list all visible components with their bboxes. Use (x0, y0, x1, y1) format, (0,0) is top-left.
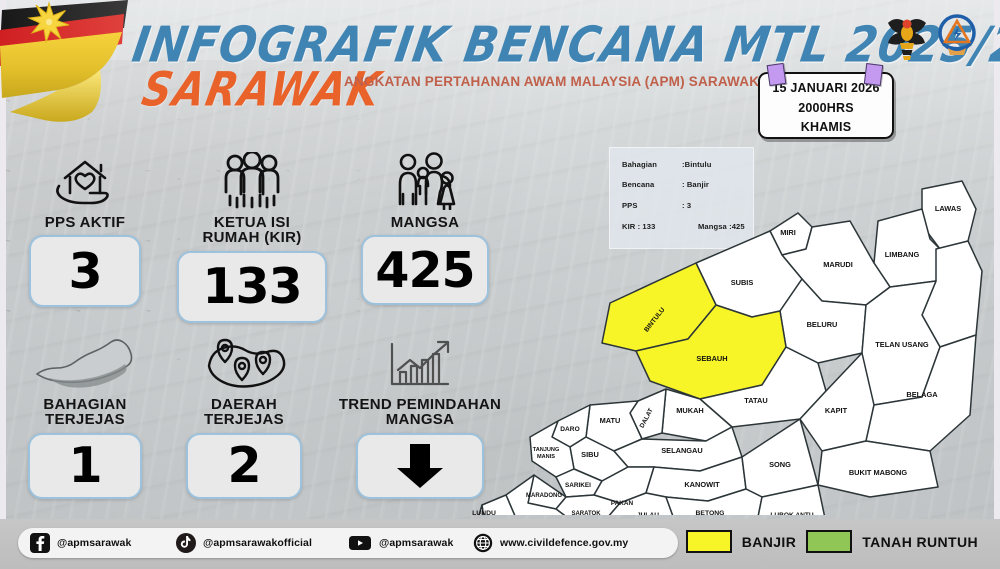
stat-ketua-isi-rumah: KETUA ISI RUMAH (KIR) 133 (168, 152, 336, 323)
info-value-bahagian: :Bintulu (682, 160, 711, 169)
stat-value-daerah: 2 (227, 441, 260, 490)
map-label-daro: DARO (560, 426, 579, 433)
social-pill: @apmsarawak @apmsarawakofficial @apmsara… (18, 528, 678, 558)
infographic-canvas: INFOGRAFIK BENCANA MTL 2025/2026 SARAWAK… (0, 0, 1000, 569)
date-card: 15 JANUARI 2026 2000HRS KHAMIS (758, 72, 894, 139)
stat-label-kir: KETUA ISI RUMAH (KIR) (168, 215, 336, 246)
social-facebook[interactable]: @apmsarawak (30, 528, 131, 558)
legend-swatch-banjir (686, 530, 732, 553)
people-group-icon (168, 152, 336, 210)
tape-right-icon (864, 63, 883, 86)
map-label-sibu: SIBU (581, 450, 599, 459)
map-label-limbang: LIMBANG (885, 250, 920, 259)
social-website-url: www.civildefence.gov.my (500, 537, 628, 549)
legend-label-tanah-runtuh: TANAH RUNTUH (862, 534, 978, 550)
map-label-song: SONG (769, 460, 791, 469)
social-website[interactable]: www.civildefence.gov.my (473, 528, 628, 558)
map-label-lawas: LAWAS (935, 204, 961, 213)
info-key-bahagian: Bahagian (622, 160, 657, 169)
map-label-saratok: SARATOK (571, 511, 601, 515)
sarawak-state-crest-icon (884, 11, 930, 63)
frame-edge-right (994, 0, 1000, 569)
tape-left-icon (767, 63, 787, 86)
down-arrow-icon (389, 441, 451, 491)
footer-bar: @apmsarawak @apmsarawakofficial @apmsara… (0, 519, 1000, 569)
map-label-kapit: KAPIT (825, 406, 848, 415)
map-label-tanjung-manis: TANJUNG (533, 447, 560, 453)
sarawak-map-icon (22, 334, 148, 392)
social-facebook-handle: @apmsarawak (57, 537, 131, 549)
map-label-matu: MATU (600, 416, 621, 425)
legend-swatch-tanah-runtuh (806, 530, 852, 553)
stat-label-pps: PPS AKTIF (22, 215, 148, 230)
map-district-song[interactable] (742, 419, 818, 497)
map-label-lundu: LUNDU (472, 510, 496, 515)
map-label-sarikei: SARIKEI (565, 482, 591, 489)
sarawak-flag-icon (0, 0, 146, 126)
stat-value-pps-box: 3 (29, 235, 141, 307)
stat-label-bahagian: BAHAGIAN TERJEJAS (22, 397, 148, 428)
page-subtitle: ANGKATAN PERTAHANAN AWAM MALAYSIA (APM) … (344, 74, 759, 89)
map-label-telan-usang: TELAN USANG (875, 340, 929, 349)
date-card-day: KHAMIS (760, 121, 892, 134)
stat-value-daerah-box: 2 (186, 433, 302, 499)
map-label-maradong: MARADONG (526, 493, 562, 499)
map-label-sebauh: SEBAUH (696, 354, 727, 363)
stat-bahagian-terjejas: BAHAGIAN TERJEJAS 1 (22, 334, 148, 499)
map-pins-icon (168, 334, 320, 392)
stat-value-bahagian: 1 (68, 441, 101, 490)
map-label-tatau: TATAU (744, 396, 767, 405)
date-card-time: 2000HRS (760, 102, 892, 115)
house-heart-hand-icon (22, 152, 148, 210)
tiktok-icon (176, 533, 196, 553)
stat-label-daerah: DAERAH TERJEJAS (168, 397, 320, 428)
stat-value-kir-box: 133 (177, 251, 327, 323)
map-label-bukit-mabong: BUKIT MABONG (849, 468, 908, 477)
map-label-marudi: MARUDI (823, 260, 853, 269)
map-label-belaga: BELAGA (906, 390, 938, 399)
map-label-beluru: BELURU (807, 320, 838, 329)
social-tiktok[interactable]: @apmsarawakofficial (176, 528, 312, 558)
social-tiktok-handle: @apmsarawakofficial (203, 537, 312, 549)
map-label-julau: JULAU (637, 512, 659, 515)
youtube-icon (348, 533, 372, 553)
map-label-pakan: PAKAN (611, 500, 634, 507)
map-label-betong: BETONG (696, 510, 725, 515)
social-youtube[interactable]: @apmsarawak (348, 528, 453, 558)
stat-value-kir: 133 (202, 262, 301, 311)
stat-value-pps: 3 (68, 247, 101, 296)
map-label-miri: MIRI (780, 228, 796, 237)
svg-text:MANIS: MANIS (537, 454, 555, 460)
map-label-lubok-antu: LUBOK ANTU (770, 512, 814, 515)
facebook-icon (30, 533, 50, 553)
stat-value-mangsa: 425 (375, 246, 474, 295)
stat-daerah-terjejas: DAERAH TERJEJAS 2 (168, 334, 320, 499)
map-label-kanowit: KANOWIT (684, 480, 720, 489)
legend-label-banjir: BANJIR (742, 534, 797, 550)
stat-value-trend-box (356, 433, 484, 499)
map-label-mukah: MUKAH (676, 406, 704, 415)
social-youtube-handle: @apmsarawak (379, 537, 453, 549)
stat-value-bahagian-box: 1 (28, 433, 142, 499)
globe-icon (473, 533, 493, 553)
map-label-subis: SUBIS (731, 278, 754, 287)
map-label-selangau: SELANGAU (661, 446, 702, 455)
stat-pps-aktif: PPS AKTIF 3 (22, 152, 148, 307)
map-legend: BANJIR TANAH RUNTUH (686, 530, 978, 553)
apm-civil-defence-crest-icon (934, 11, 980, 63)
sarawak-district-map: LAWAS LIMBANG MIRI MARUDI SUBIS BELURU T… (470, 175, 990, 515)
